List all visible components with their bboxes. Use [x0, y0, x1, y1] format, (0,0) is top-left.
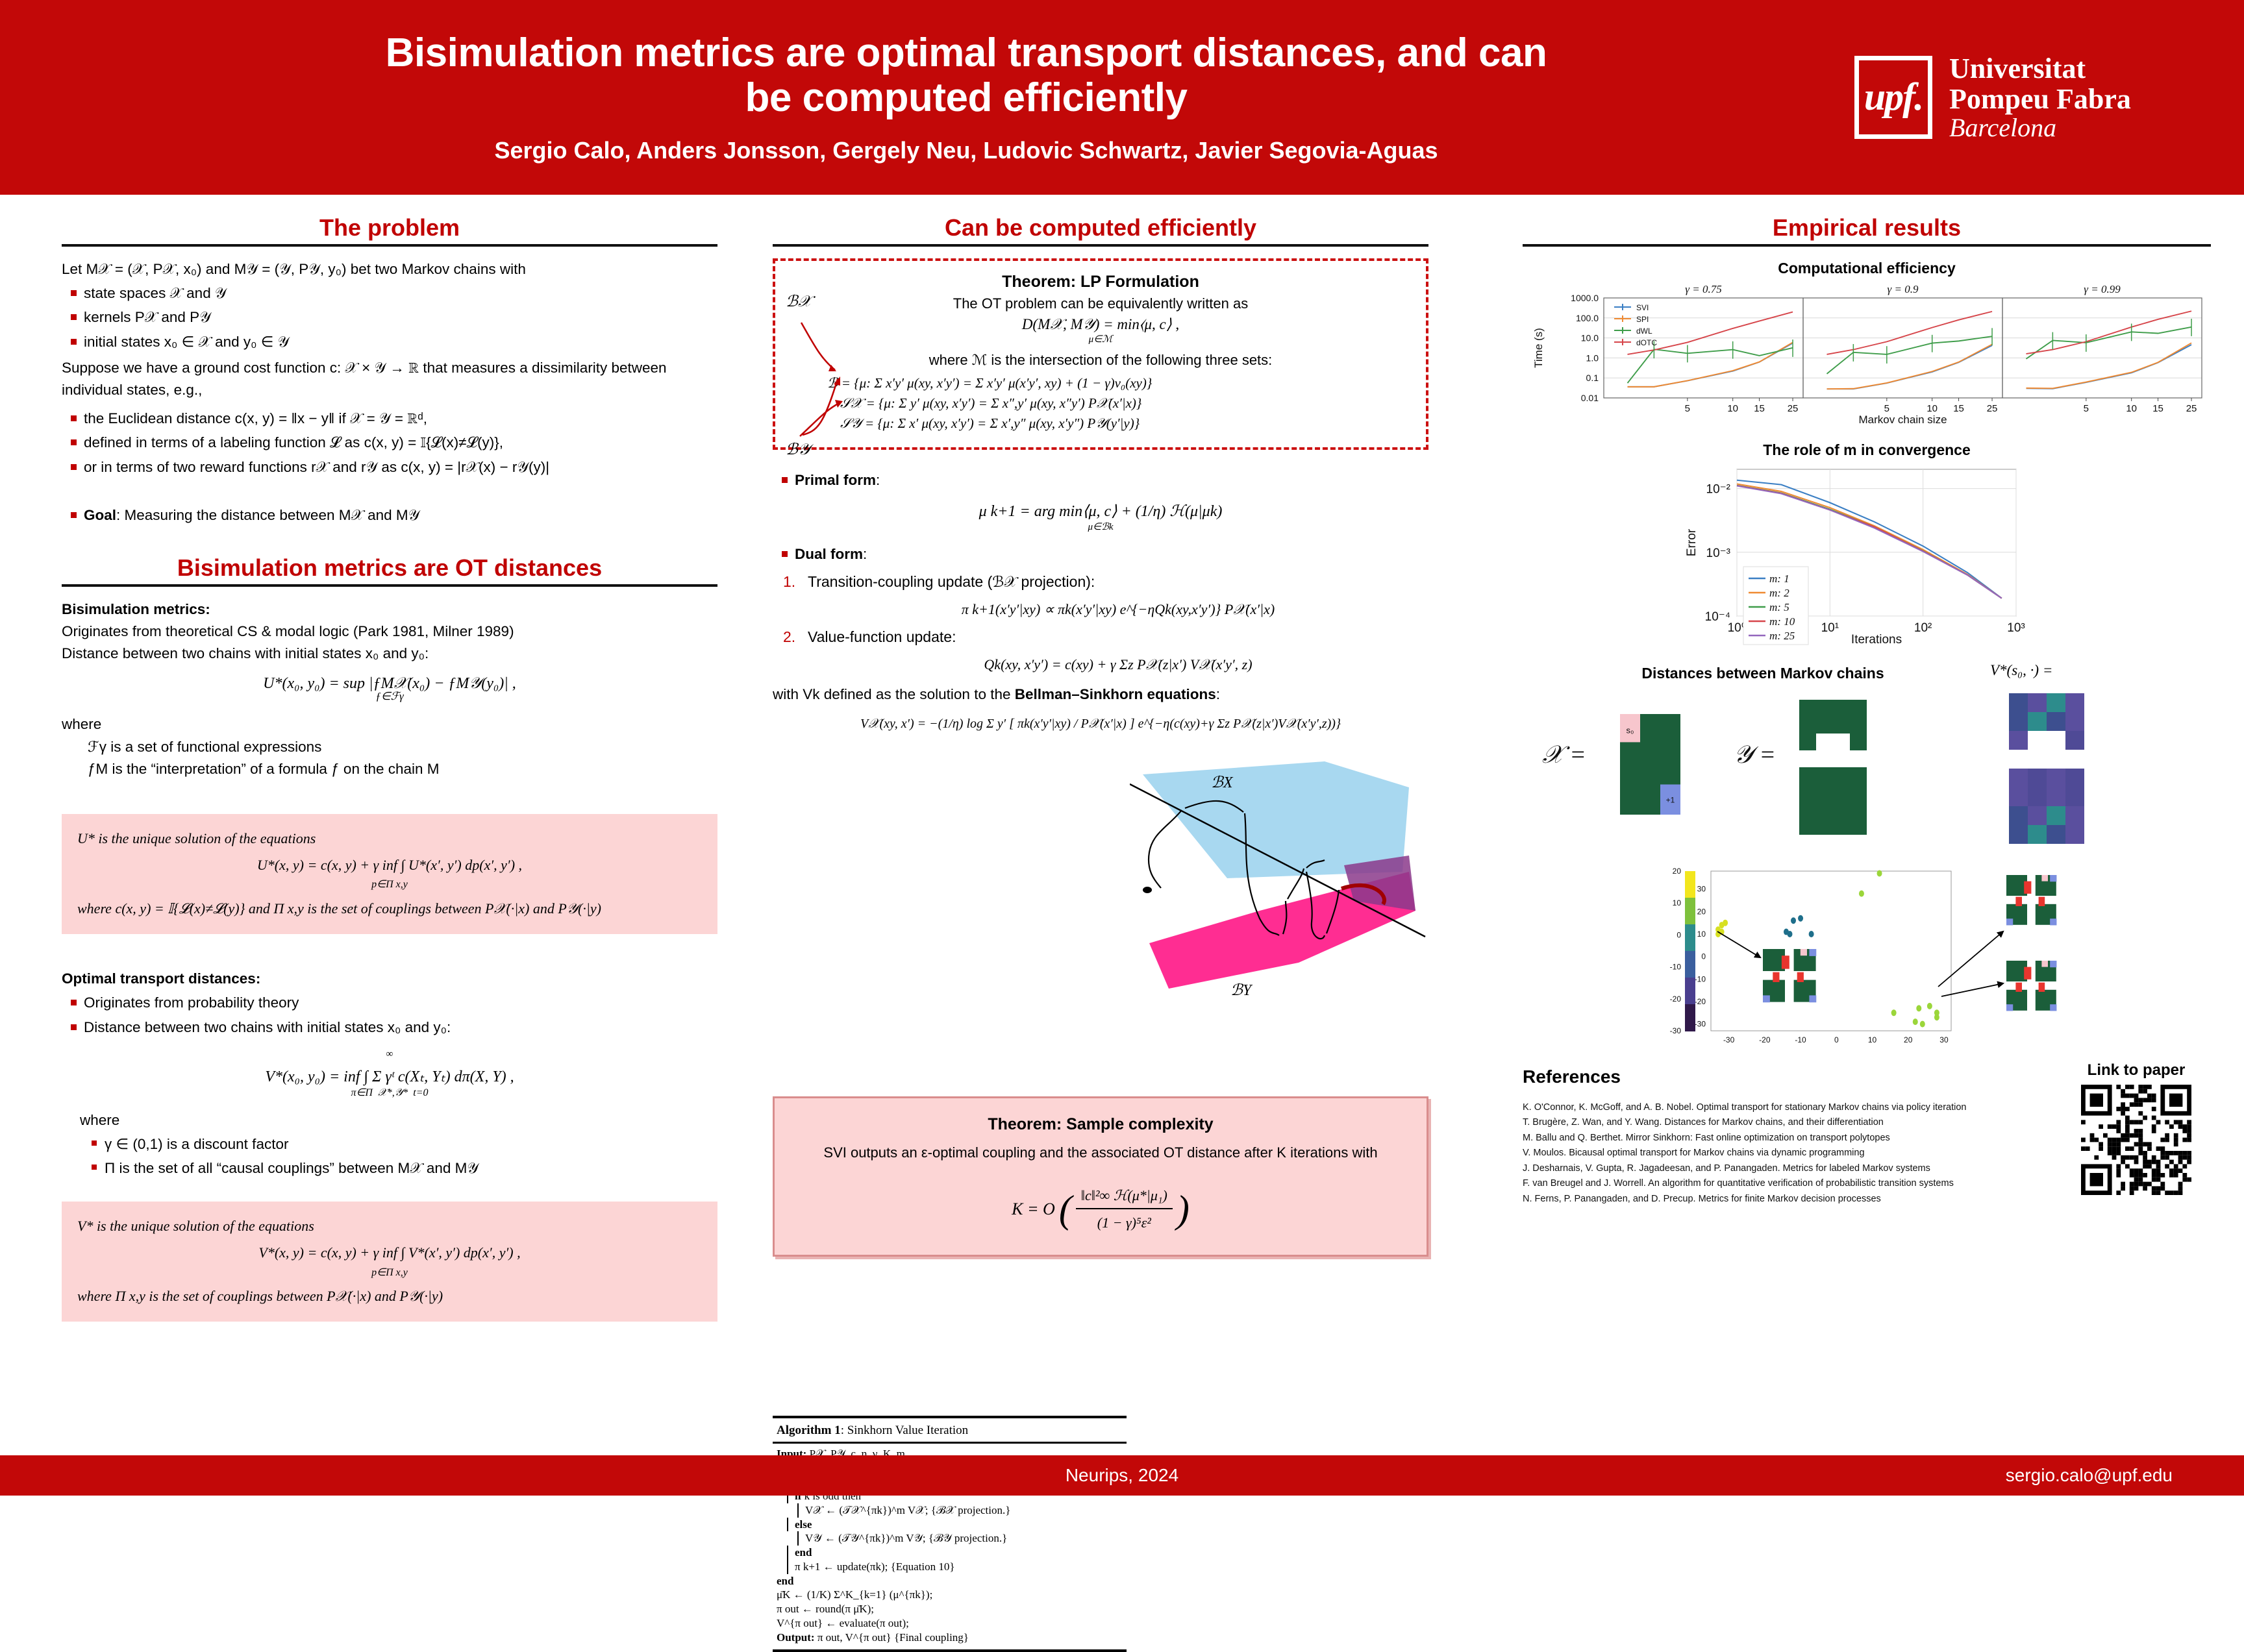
ot-sub-pi: π∈Π [351, 1087, 373, 1098]
column-left: The problem Let M𝒳 = (𝒳, P𝒳, x₀) and M𝒴 … [62, 214, 717, 1322]
svg-text:10¹: 10¹ [1821, 621, 1839, 635]
svg-text:10⁻⁴: 10⁻⁴ [1705, 610, 1730, 624]
algorithm-line: μ̄K ← (1/K) Σ^K_{k=1} (μ^{πk}); [777, 1588, 1123, 1602]
section-title-bisim-ot: Bisimulation metrics are OT distances [62, 554, 717, 582]
annotation-bx: ℬ𝒳 [786, 292, 812, 311]
logo-line-3: Barcelona [1949, 114, 2131, 142]
lp-theorem-lead: The OT problem can be equivalently writt… [792, 295, 1409, 312]
list-item: initial states x₀ ∈ 𝒳 and y₀ ∈ 𝒴 [66, 331, 717, 353]
upf-logo-mark-icon: upf. [1854, 56, 1932, 139]
list-item: Goal: Measuring the distance between M𝒳 … [66, 504, 717, 526]
svg-text:1000.0: 1000.0 [1571, 293, 1599, 303]
list-item: Distance between two chains with initial… [66, 1017, 717, 1039]
svg-text:-10: -10 [1795, 1035, 1806, 1044]
svg-text:γ = 0.99: γ = 0.99 [2084, 283, 2121, 295]
step-2-text: Value-function update: [808, 628, 956, 645]
ot-where-label: where [80, 1109, 717, 1131]
svg-text:-30: -30 [1695, 1020, 1706, 1029]
embedding-scatter-chart: -30-20-100102030-30-20-100102030-30-20-1… [1523, 863, 2211, 1052]
lp-theorem-equation-main: D(M𝒳, M𝒴) = min⟨μ, c⟩ , [1022, 316, 1179, 332]
dual-form-bullet: Dual form: [777, 543, 1428, 565]
svg-text:Markov chain size: Markov chain size [1858, 413, 1947, 426]
ot-sum-limit-top: ∞ [386, 1049, 393, 1059]
svg-text:20: 20 [1697, 907, 1706, 916]
ot-sum-limit-bottom: t=0 [413, 1087, 428, 1098]
list-item: 1. Transition-coupling update (ℬ𝒳 projec… [778, 573, 1428, 618]
sample-complexity-equation: K = O ( ‖c‖²∞ ℋ(μ*|μ₁) (1 − γ)⁵ε² ) [790, 1178, 1411, 1240]
algorithm-line: else [787, 1518, 1123, 1532]
algorithm-line: V𝒴 ← (𝒯𝒴^{πk})^m V𝒴; {ℬ𝒴 projection.} [797, 1531, 1123, 1546]
reference-entry: V. Moulos. Bicausal optimal transport fo… [1523, 1146, 2036, 1161]
chart-title-efficiency: Computational efficiency [1523, 260, 2211, 277]
svg-text:10: 10 [1868, 1035, 1877, 1044]
bellman-sinkhorn-equation: V𝒳(xy, x′) = −(1/η) log Σ y′ [ πk(x′y′|x… [773, 717, 1428, 732]
svg-text:5: 5 [2084, 403, 2089, 414]
point-icon [1143, 887, 1152, 893]
svg-text:m: 10: m: 10 [1769, 615, 1795, 628]
step-1-text: Transition-coupling update (ℬ𝒳 projectio… [808, 573, 1095, 590]
author-list: Sergio Calo, Anders Jonsson, Gergely Neu… [78, 137, 1854, 164]
list-item: 2. Value-function update: Qk(xy, x′y′) =… [778, 628, 1428, 673]
ot-equation: ∞ V*(x₀, y₀) = inf ∫ Σ γᵗ c(Xₜ, Yₜ) dπ(X… [62, 1049, 717, 1099]
svg-text:15: 15 [2152, 403, 2163, 414]
references-block: References K. O'Connor, K. McGoff, and A… [1523, 1066, 2211, 1207]
ot-equation-main: V*(x₀, y₀) = inf ∫ Σ γᵗ c(Xₜ, Yₜ) dπ(X, … [62, 1067, 717, 1086]
ot-heading: Optimal transport distances: [62, 968, 717, 990]
column-right: Empirical results Computational efficien… [1523, 214, 2211, 1207]
v-star-equation-subscript: p∈Π x,y [77, 1264, 702, 1281]
svg-text:SVI: SVI [1636, 303, 1649, 312]
svg-text:10²: 10² [1914, 621, 1932, 635]
upf-logo-wordmark: Universitat Pompeu Fabra Barcelona [1949, 53, 2131, 142]
svg-text:-20: -20 [1759, 1035, 1771, 1044]
svg-text:20: 20 [1904, 1035, 1913, 1044]
svg-text:-10: -10 [1670, 963, 1682, 972]
svg-text:Time (s): Time (s) [1532, 328, 1545, 368]
reference-entry: F. van Breugel and J. Worrell. An algori… [1523, 1176, 2036, 1191]
set-b-equation: ℬ = {μ: Σ x′y′ μ(xy, x′y′) = Σ x′y′ μ(x′… [827, 375, 1409, 391]
svg-text:25: 25 [1788, 403, 1799, 414]
algorithm-line: π k+1 ← update(πk); {Equation 10} [787, 1560, 1123, 1574]
svg-text:10: 10 [1673, 898, 1682, 907]
column-middle: Can be computed efficiently ℬ𝒳 ℬ𝒴 Theore… [773, 214, 1428, 1257]
u-star-intro: U* is the unique solution of the equatio… [77, 827, 702, 850]
title-line-2: be computed efficiently [78, 75, 1854, 120]
v-star-equation: V*(x, y) = c(x, y) + γ inf ∫ V*(x′, y′) … [77, 1241, 702, 1281]
convergence-chart: 10⁰10¹10²10³10⁻⁴10⁻³10⁻²m: 1m: 2m: 5m: 1… [1523, 459, 2211, 647]
list-item: Π is the set of all “causal couplings” b… [88, 1157, 717, 1179]
svg-text:m: 2: m: 2 [1769, 587, 1789, 599]
step-number: 2. [783, 628, 795, 646]
svg-text:0.01: 0.01 [1581, 393, 1599, 403]
step-1-equation: π k+1(x′y′|xy) ∝ πk(x′y′|xy) e^{−ηQk(xy,… [808, 601, 1428, 618]
where-item: ℱγ is a set of functional expressions [88, 736, 717, 758]
v-star-box: V* is the unique solution of the equatio… [62, 1202, 717, 1322]
svg-text:𝒴 =: 𝒴 = [1734, 741, 1776, 769]
svg-text:0: 0 [1834, 1035, 1839, 1044]
algorithm-line: V𝒳 ← (𝒯𝒳^{πk})^m V𝒳; {ℬ𝒳 projection.} [797, 1503, 1123, 1518]
svg-text:10: 10 [2126, 403, 2137, 414]
sample-complexity-box: Theorem: Sample complexity SVI outputs a… [773, 1096, 1428, 1257]
list-item: Dual form: [777, 543, 1428, 565]
problem-suppose: Suppose we have a ground cost function c… [62, 357, 717, 401]
svg-text:𝒳 =: 𝒳 = [1542, 741, 1586, 769]
reference-entry: T. Brugère, Z. Wan, and Y. Wang. Distanc… [1523, 1115, 2036, 1130]
where-item: ƒM is the “interpretation” of a formula … [88, 758, 717, 780]
algorithm-name: : Sinkhorn Value Iteration [841, 1424, 968, 1437]
svg-text:m: 1: m: 1 [1769, 573, 1789, 585]
list-item: γ ∈ (0,1) is a discount factor [88, 1133, 717, 1155]
svg-text:Iterations: Iterations [1851, 633, 1902, 647]
svg-text:dOTC: dOTC [1636, 338, 1657, 347]
svg-text:5: 5 [1685, 403, 1690, 414]
v-star-equation-main: V*(x, y) = c(x, y) + γ inf ∫ V*(x′, y′) … [258, 1244, 520, 1261]
svg-text:5: 5 [1884, 403, 1889, 414]
algorithm-caption: Algorithm 1: Sinkhorn Value Iteration [773, 1421, 1127, 1444]
svg-text:γ = 0.75: γ = 0.75 [1685, 283, 1721, 295]
svg-text:15: 15 [1953, 403, 1964, 414]
svg-text:0: 0 [1677, 930, 1681, 939]
primal-form-bullet: Primal form: [777, 469, 1428, 491]
svg-text:10³: 10³ [2007, 621, 2025, 635]
algorithm-and-diagram-row: Algorithm 1: Sinkhorn Value Iteration In… [773, 748, 1428, 1073]
where-label: where [62, 713, 717, 735]
poster-footer: Neurips, 2024 sergio.calo@upf.edu [0, 1455, 2244, 1496]
reference-entry: M. Ballu and Q. Berthet. Mirror Sinkhorn… [1523, 1131, 2036, 1146]
svg-text:1.0: 1.0 [1586, 352, 1599, 363]
sample-complexity-denominator: (1 − γ)⁵ε² [1076, 1209, 1173, 1234]
step-2-equation: Qk(xy, x′y′) = c(xy) + γ Σz P𝒳(z|x′) V𝒳(… [808, 656, 1428, 673]
svg-text:s₀: s₀ [1627, 725, 1634, 735]
svg-text:10⁻³: 10⁻³ [1706, 547, 1731, 560]
logo-line-1: Universitat [1949, 53, 2131, 84]
divider [773, 244, 1428, 247]
divider [62, 584, 717, 587]
svg-text:+1: +1 [1666, 795, 1675, 804]
list-item: defined in terms of a labeling function … [66, 432, 717, 454]
goal-text: : Measuring the distance between M𝒳 and … [116, 507, 419, 523]
path-icon [1149, 810, 1182, 888]
set-sx-equation: 𝒮𝒳 = {μ: Σ y′ μ(xy, x′y′) = Σ x″,y′ μ(xy… [840, 395, 1409, 412]
svg-text:20: 20 [1673, 867, 1682, 876]
svg-text:m: 25: m: 25 [1769, 630, 1795, 642]
svg-text:10: 10 [1926, 403, 1938, 414]
list-item: or in terms of two reward functions r𝒳 a… [66, 456, 717, 478]
paren-close-icon: ) [1177, 1178, 1190, 1240]
algorithm-number: Algorithm 1 [777, 1424, 841, 1437]
bisim-heading: Bisimulation metrics: [62, 598, 717, 621]
svg-text:30: 30 [1939, 1035, 1949, 1044]
algorithm-line: end [777, 1574, 1123, 1588]
projection-diagram: ℬX ℬY [1130, 748, 1428, 1066]
lp-theorem-title: Theorem: LP Formulation [792, 273, 1409, 291]
sample-complexity-numerator: ‖c‖²∞ ℋ(μ*|μ₁) [1076, 1184, 1173, 1209]
goal-label: Goal [84, 507, 116, 523]
u-star-equation-subscript: p∈Π x,y [77, 876, 702, 893]
list-item: state spaces 𝒳 and 𝒴 [66, 282, 717, 304]
reference-entry: N. Ferns, P. Panangaden, and D. Precup. … [1523, 1192, 2036, 1207]
svg-text:15: 15 [1754, 403, 1765, 414]
svg-text:10: 10 [1697, 930, 1706, 939]
paren-open-icon: ( [1059, 1178, 1072, 1240]
svg-text:-30: -30 [1670, 1026, 1682, 1035]
upf-logo: upf. Universitat Pompeu Fabra Barcelona [1854, 53, 2244, 142]
bellman-intro-bold: Bellman–Sinkhorn equations [1015, 686, 1216, 702]
divider [1523, 244, 2211, 247]
diagram-label-bx: ℬX [1211, 774, 1234, 791]
markov-chains-figure: Distances between Markov chains V*(s₀, ·… [1523, 665, 2211, 859]
title-line-1: Bisimulation metrics are optimal transpo… [78, 31, 1854, 75]
svg-text:-30: -30 [1723, 1035, 1735, 1044]
problem-intro: Let M𝒳 = (𝒳, P𝒳, x₀) and M𝒴 = (𝒴, P𝒴, y₀… [62, 258, 717, 280]
markov-grids: 𝒳 =𝒴 =s₀+1 [1523, 682, 2211, 863]
u-star-box: U* is the unique solution of the equatio… [62, 814, 717, 934]
ot-sub-domain: 𝒳*,𝒴* [378, 1087, 408, 1098]
list-item: the Euclidean distance c(x, y) = ‖x − y‖… [66, 408, 717, 430]
markov-figure-title: Distances between Markov chains [1581, 665, 1945, 682]
svg-text:10.0: 10.0 [1581, 333, 1599, 343]
step-number: 1. [783, 573, 795, 591]
section-title-efficient: Can be computed efficiently [773, 214, 1428, 241]
primal-form-label: Primal form [795, 472, 876, 488]
header-text-block: Bisimulation metrics are optimal transpo… [0, 31, 1854, 165]
svg-text:30: 30 [1697, 885, 1706, 894]
sample-complexity-body: SVI outputs an ε-optimal coupling and th… [790, 1141, 1411, 1164]
reference-entry: J. Desharnais, V. Gupta, R. Jagadeesan, … [1523, 1161, 2036, 1176]
algorithm-line: π out ← round(π μ̄K); [777, 1602, 1123, 1616]
svg-text:dWL: dWL [1636, 327, 1652, 336]
u-star-equation-main: U*(x, y) = c(x, y) + γ inf ∫ U*(x′, y′) … [257, 857, 522, 873]
link-to-paper[interactable]: Link to paper [2062, 1061, 2211, 1198]
bellman-intro: with Vk defined as the solution to the B… [773, 684, 1428, 706]
primal-equation-main: μ k+1 = arg min⟨μ, c⟩ + (1/η) ℋ(μ|μk) [979, 503, 1223, 520]
v-star-intro: V* is the unique solution of the equatio… [77, 1214, 702, 1237]
diagram-label-by: ℬY [1230, 982, 1253, 999]
primal-equation: μ k+1 = arg min⟨μ, c⟩ + (1/η) ℋ(μ|μk) μ∈… [773, 502, 1428, 533]
list-item: Primal form: [777, 469, 1428, 491]
bellman-intro-pre: with Vk defined as the solution to the [773, 686, 1015, 702]
algorithm-line: end [787, 1546, 1123, 1560]
divider [62, 244, 717, 247]
problem-bullets-2: the Euclidean distance c(x, y) = ‖x − y‖… [66, 408, 717, 478]
u-star-equation: U*(x, y) = c(x, y) + γ inf ∫ U*(x′, y′) … [77, 854, 702, 893]
page-title: Bisimulation metrics are optimal transpo… [78, 31, 1854, 121]
qr-code-icon[interactable] [2081, 1085, 2191, 1195]
section-title-empirical: Empirical results [1523, 214, 2211, 241]
logo-line-2: Pompeu Fabra [1949, 84, 2131, 114]
list-item: kernels P𝒳 and P𝒴 [66, 306, 717, 328]
annotation-arrows-icon [795, 319, 892, 449]
svg-text:100.0: 100.0 [1576, 313, 1599, 323]
svg-text:10⁻²: 10⁻² [1706, 483, 1731, 497]
lp-theorem-box: ℬ𝒳 ℬ𝒴 Theorem: LP Formulation The OT pro… [773, 258, 1428, 450]
svg-text:-10: -10 [1695, 974, 1706, 983]
computational-efficiency-chart: 0.010.11.010.0100.01000.0γ = 0.755101525… [1523, 277, 2211, 426]
region-bx-icon [1143, 761, 1409, 878]
problem-bullets-1: state spaces 𝒳 and 𝒴 kernels P𝒳 and P𝒴 i… [66, 282, 717, 353]
svg-text:Error: Error [1685, 528, 1699, 556]
svg-text:0.1: 0.1 [1586, 373, 1599, 383]
link-to-paper-title: Link to paper [2062, 1061, 2211, 1079]
svg-text:m: 5: m: 5 [1769, 601, 1789, 613]
section-title-problem: The problem [62, 214, 717, 241]
svg-text:0: 0 [1701, 952, 1706, 961]
svg-text:SPI: SPI [1636, 315, 1649, 324]
footer-venue: Neurips, 2024 [0, 1465, 2244, 1486]
list-item: Originates from probability theory [66, 992, 717, 1014]
poster-header: Bisimulation metrics are optimal transpo… [0, 0, 2244, 195]
dual-form-label: Dual form [795, 546, 863, 562]
algorithm-line: V^{π out} ← evaluate(π out); [777, 1616, 1123, 1631]
set-sy-equation: 𝒮𝒴 = {μ: Σ x′ μ(xy, x′y′) = Σ x′,y″ μ(xy… [840, 415, 1409, 432]
svg-text:25: 25 [1987, 403, 1998, 414]
footer-email[interactable]: sergio.calo@upf.edu [2006, 1465, 2173, 1486]
algorithm-box: Algorithm 1: Sinkhorn Value Iteration In… [773, 1416, 1127, 1652]
v-star-where: where Π x,y is the set of couplings betw… [77, 1285, 702, 1307]
ot-equation-subscripts: π∈Π 𝒳*,𝒴* t=0 [62, 1086, 717, 1099]
svg-text:10: 10 [1727, 403, 1738, 414]
bisim-origin: Originates from theoretical CS & modal l… [62, 621, 717, 643]
algorithm-line: Output: π out, V^{π out} {Final coupling… [777, 1631, 1123, 1645]
markov-figure-v-label: V*(s₀, ·) = [1990, 662, 2052, 679]
ot-where-items: γ ∈ (0,1) is a discount factor Π is the … [88, 1133, 717, 1179]
svg-text:-20: -20 [1695, 997, 1706, 1006]
chart-title-convergence: The role of m in convergence [1523, 441, 2211, 459]
svg-text:-20: -20 [1670, 994, 1682, 1004]
references-list: K. O'Connor, K. McGoff, and A. B. Nobel.… [1523, 1100, 2036, 1207]
svg-text:γ = 0.9: γ = 0.9 [1888, 283, 1919, 295]
sample-complexity-title: Theorem: Sample complexity [790, 1111, 1411, 1137]
primal-equation-subscript: μ∈ℬk [773, 521, 1428, 533]
ot-bullets: Originates from probability theory Dista… [66, 992, 717, 1038]
sample-complexity-lhs: K = O [1012, 1196, 1055, 1223]
bisim-equation-subscript: ƒ∈ℱγ [62, 690, 717, 703]
goal-bullet: Goal: Measuring the distance between M𝒳 … [66, 504, 717, 526]
svg-text:25: 25 [2186, 403, 2197, 414]
bisim-equation: U*(x₀, y₀) = sup |ƒM𝒳(x₀) − ƒM𝒴(y₀)| , ƒ… [62, 675, 717, 703]
u-star-where: where c(x, y) = 𝕀{𝓛(x)≠𝓛(y)} and Π x,y i… [77, 897, 702, 920]
reference-entry: K. O'Connor, K. McGoff, and A. B. Nobel.… [1523, 1100, 2036, 1115]
bisim-distance: Distance between two chains with initial… [62, 643, 717, 665]
dual-steps: 1. Transition-coupling update (ℬ𝒳 projec… [778, 573, 1428, 673]
